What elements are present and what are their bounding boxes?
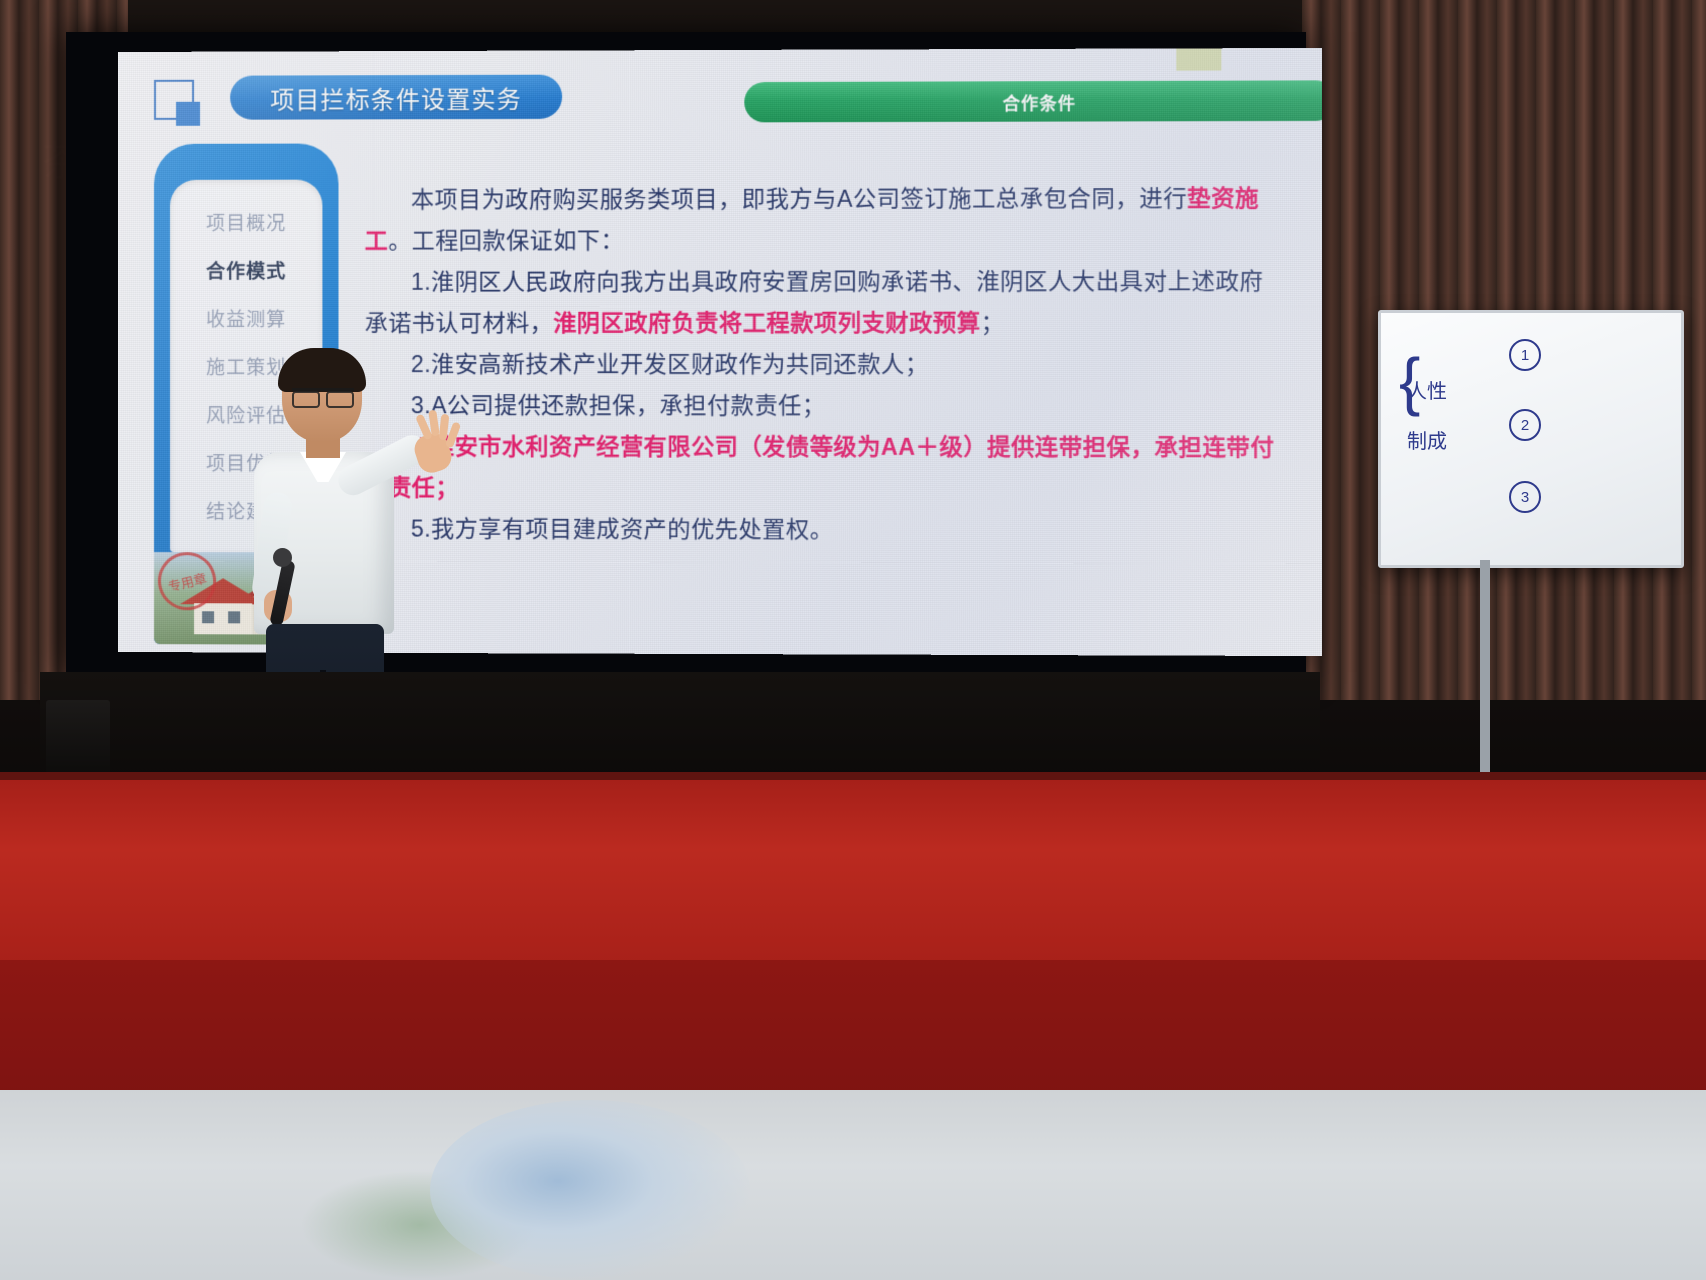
stage-skirt	[40, 672, 1320, 780]
whiteboard-note-2: 制成	[1407, 425, 1447, 454]
sidebar-item-label: 合作模式	[206, 256, 286, 283]
whiteboard: { 1 2 3 人性 制成	[1378, 310, 1684, 568]
list-item-1-red: 淮阴区政府负责将工程款项列支财政预算	[553, 310, 980, 336]
list-item-5-num: 5.	[411, 516, 431, 542]
glasses-icon	[292, 388, 354, 405]
carpet	[0, 1090, 1706, 1280]
whiteboard-number-3: 3	[1509, 481, 1541, 513]
intro-text-a: 本项目为政府购买服务类项目，即我方与A公司签订施工总承包合同，进行	[411, 185, 1187, 213]
list-item-3-text: A公司提供还款担保，承担付款责任；	[431, 392, 826, 418]
intro-red-1: 垫	[1187, 185, 1211, 211]
slide-title-banner: 项目拦标条件设置实务	[230, 75, 562, 120]
slide-body-text: 本项目为政府购买服务类项目，即我方与A公司签订施工总承包合同，进行垫资施工。工程…	[365, 178, 1285, 552]
whiteboard-number-1: 1	[1509, 339, 1541, 371]
whiteboard-note-1: 人性	[1407, 375, 1447, 404]
list-item-1-tail: ；	[981, 310, 1005, 336]
speaker-box	[46, 700, 110, 774]
section-banner-label: 合作条件	[1003, 89, 1076, 114]
list-item-4-red: 淮安市水利资产经营有限公司（发债等级为AA＋级）提供连带担保，承担连	[431, 433, 1226, 460]
intro-text-b: 。工程回款保证如下：	[388, 227, 624, 253]
list-item-5: 5.我方享有项目建成资产的优先处置权。	[365, 508, 1285, 551]
microphone-head	[273, 548, 292, 567]
photo-scene: 茶 项目拦标条件设置实务 合作条件 项目概况 合作模式	[0, 0, 1706, 1280]
sidebar-item-project-overview[interactable]: 项目概况	[170, 198, 322, 246]
list-item-2: 2.淮安高新技术产业开发区财政作为共同还款人；	[365, 344, 1285, 386]
sidebar-item-label: 收益测算	[206, 304, 286, 331]
whiteboard-stand	[1480, 560, 1490, 790]
sidebar-item-revenue-estimate[interactable]: 收益测算	[170, 294, 322, 342]
intro-paragraph: 本项目为政府购买服务类项目，即我方与A公司签订施工总承包合同，进行垫资施工。工程…	[365, 178, 1285, 262]
list-item-1: 1.淮阴区人民政府向我方出具政府安置房回购承诺书、淮阴区人大出具对上述政府承诺书…	[365, 261, 1285, 344]
list-item-1-num: 1.	[411, 269, 431, 295]
carpet-flower-pattern	[430, 1100, 750, 1280]
sidebar-item-cooperation-mode[interactable]: 合作模式	[170, 246, 322, 294]
square-logo-icon	[154, 80, 206, 128]
presenter-hair	[278, 348, 366, 392]
whiteboard-number-2: 2	[1509, 409, 1541, 441]
list-item-4: 4.淮安市水利资产经营有限公司（发债等级为AA＋级）提供连带担保，承担连带付款责…	[365, 426, 1285, 510]
list-item-2-num: 2.	[411, 351, 431, 377]
sidebar-item-label: 项目概况	[206, 208, 286, 235]
list-item-1-text-a: 淮阴区人民政府向我方出具政府安置房回购承诺书、淮阴区人大出具对上述	[431, 268, 1215, 295]
slide-corner-tab	[1176, 48, 1221, 70]
slide-title: 项目拦标条件设置实务	[270, 79, 522, 115]
stage-front-panel	[0, 960, 1706, 1110]
list-item-2-text: 淮安高新技术产业开发区财政作为共同还款人；	[431, 351, 929, 377]
list-item-3: 3.A公司提供还款担保，承担付款责任；	[365, 385, 1285, 427]
section-banner: 合作条件	[744, 80, 1322, 122]
list-item-5-text: 我方享有项目建成资产的优先处置权。	[431, 516, 833, 543]
stage-floor	[0, 780, 1706, 980]
